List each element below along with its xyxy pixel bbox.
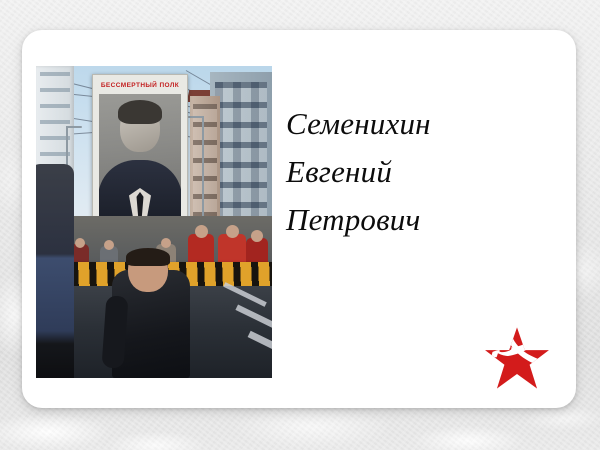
- name-line-3: Петрович: [286, 196, 556, 244]
- placard-header-text: БЕССМЕРТНЫЙ ПОЛК: [101, 82, 179, 89]
- red-star-logo: [482, 326, 552, 394]
- name-line-2: Евгений: [286, 148, 556, 196]
- street-lamp-arm: [188, 116, 204, 118]
- street-lamp-arm: [66, 126, 82, 128]
- road-marking: [248, 331, 272, 364]
- placard-header: БЕССМЕРТНЫЙ ПОЛК: [93, 78, 187, 92]
- road-marking: [235, 304, 272, 333]
- crowd-person-head: [226, 225, 239, 238]
- crowd-person-head: [161, 238, 171, 248]
- march-photo: БЕССМЕРТНЫЙ ПОЛК Семенихин Евгений Петро…: [36, 66, 272, 378]
- portrait-hair: [118, 100, 162, 124]
- crowd-person-head: [104, 240, 114, 250]
- name-line-1: Семенихин: [286, 100, 556, 148]
- content-card: БЕССМЕРТНЫЙ ПОЛК Семенихин Евгений Петро…: [22, 30, 576, 408]
- foreground-man: [36, 164, 74, 378]
- crowd-person-head: [75, 238, 85, 248]
- street-lamp: [202, 116, 204, 220]
- boy-hair: [126, 248, 170, 266]
- road-marking: [223, 282, 267, 307]
- veteran-name: Семенихин Евгений Петрович: [286, 100, 556, 244]
- veteran-portrait: [99, 94, 181, 222]
- crowd-person-head: [251, 230, 263, 242]
- crowd-person-head: [195, 225, 208, 238]
- star-shape: [483, 326, 551, 394]
